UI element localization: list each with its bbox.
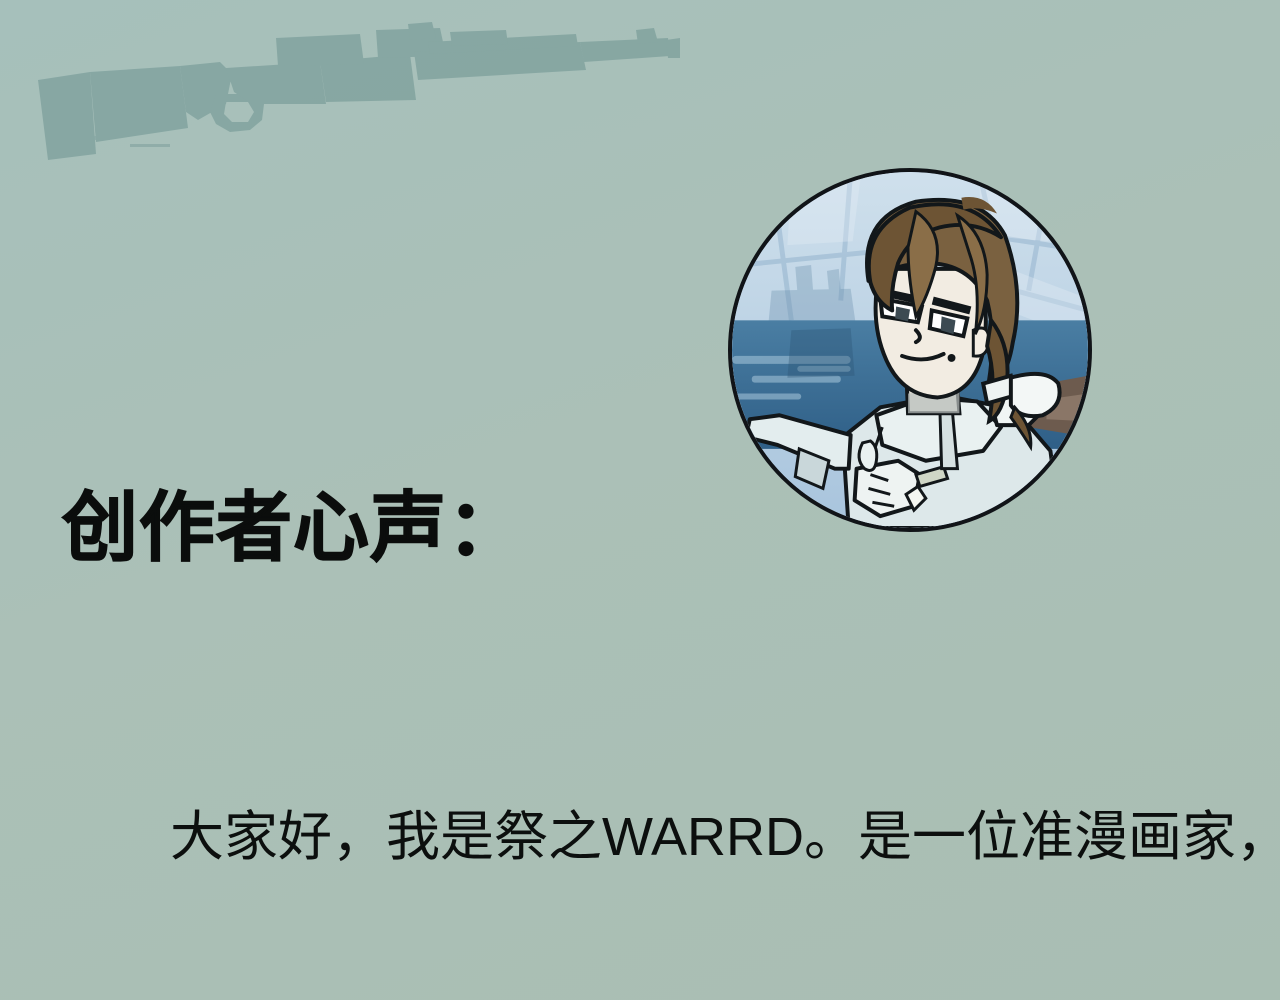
creator-message-page: 创作者心声： 大家好，我是祭之WARRD。是一位准漫画家， 我的梦想就是成为一名… bbox=[0, 0, 1280, 1000]
message-line-1: 大家好，我是祭之WARRD。是一位准漫画家， bbox=[62, 802, 1222, 873]
avatar bbox=[728, 168, 1092, 532]
creator-message-body: 大家好，我是祭之WARRD。是一位准漫画家， 我的梦想就是成为一名大人气职业漫画… bbox=[62, 660, 1222, 1000]
page-title: 创作者心声： bbox=[62, 486, 524, 572]
rifle-silhouette-icon bbox=[20, 8, 680, 168]
character-avatar-icon bbox=[728, 168, 1092, 532]
